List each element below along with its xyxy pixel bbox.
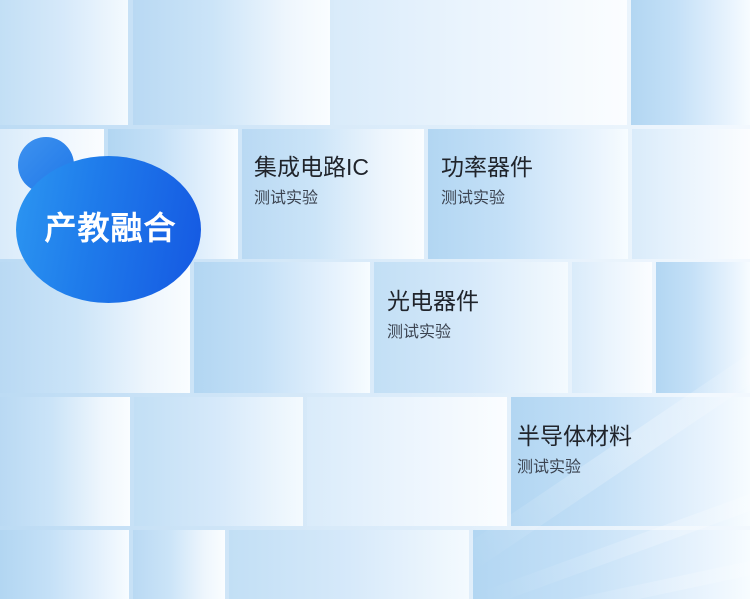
bg-tile bbox=[334, 0, 627, 125]
bg-tile bbox=[194, 262, 370, 393]
bg-tile bbox=[134, 397, 303, 526]
badge: 产教融合 bbox=[8, 128, 208, 303]
card-title: 半导体材料 bbox=[517, 423, 632, 451]
bg-tile bbox=[0, 530, 129, 599]
card-semiconductor-material[interactable]: 半导体材料 测试实验 bbox=[517, 423, 632, 478]
bg-tile bbox=[631, 0, 750, 125]
badge-label: 产教融合 bbox=[44, 212, 176, 244]
bg-tile bbox=[0, 397, 130, 526]
card-integrated-circuit[interactable]: 集成电路IC 测试实验 bbox=[254, 154, 369, 209]
bg-tile bbox=[632, 129, 750, 259]
badge-circle: 产教融合 bbox=[16, 156, 201, 303]
bg-tile bbox=[229, 530, 469, 599]
card-subtitle: 测试实验 bbox=[517, 458, 632, 479]
card-power-device[interactable]: 功率器件 测试实验 bbox=[441, 154, 533, 209]
card-subtitle: 测试实验 bbox=[254, 189, 369, 210]
bg-tile bbox=[0, 0, 128, 125]
card-title: 功率器件 bbox=[441, 154, 533, 182]
infographic-canvas: 产教融合 集成电路IC 测试实验 功率器件 测试实验 光电器件 测试实验 半导体… bbox=[0, 0, 750, 599]
bg-tile bbox=[133, 0, 330, 125]
card-title: 集成电路IC bbox=[254, 154, 369, 182]
bg-tile bbox=[656, 262, 750, 393]
bg-tile bbox=[473, 530, 750, 599]
card-subtitle: 测试实验 bbox=[441, 189, 533, 210]
card-subtitle: 测试实验 bbox=[387, 323, 479, 344]
bg-tile bbox=[133, 530, 225, 599]
bg-tile bbox=[307, 397, 507, 526]
card-title: 光电器件 bbox=[387, 288, 479, 316]
card-optoelectronic-device[interactable]: 光电器件 测试实验 bbox=[387, 288, 479, 343]
bg-tile bbox=[572, 262, 652, 393]
